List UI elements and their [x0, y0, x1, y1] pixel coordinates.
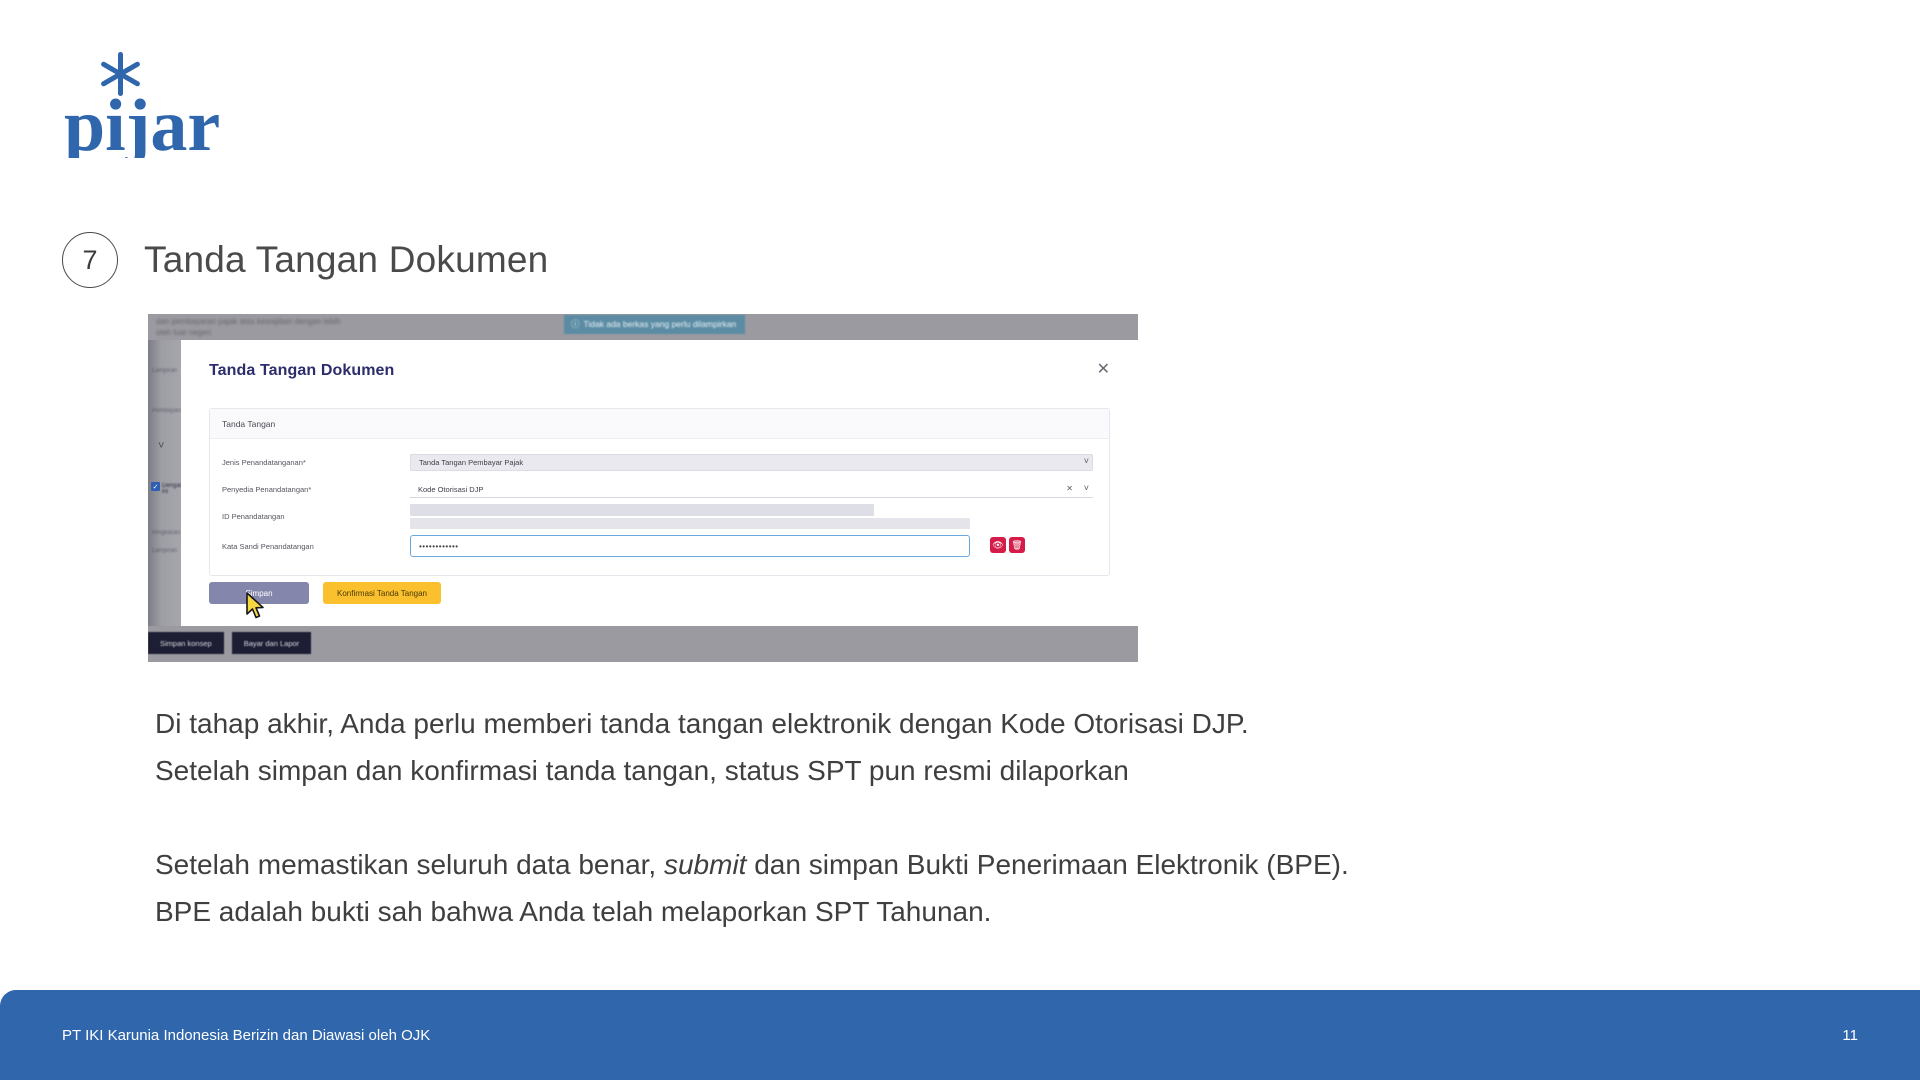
field-control-penyedia: Kode Otorisasi DJP ✕ ˅ — [410, 481, 1109, 498]
field-row-kata-sandi: Kata Sandi Penandatangan •••••••••••• 👁 … — [210, 530, 1109, 562]
signature-form: Jenis Penandatanganan* Tanda Tangan Pemb… — [210, 439, 1109, 562]
modal-title: Tanda Tangan Dokumen — [209, 362, 394, 380]
attachment-banner: ⓘTidak ada berkas yang perlu dilampirkan — [564, 315, 745, 334]
close-x-icon[interactable]: ✕ — [1097, 362, 1110, 378]
password-input-kata-sandi[interactable]: •••••••••••• — [410, 535, 970, 557]
sidebar-item-ringkasan[interactable]: Ringkasan — [152, 530, 180, 536]
sidebar-item-lampiran-2[interactable]: Lampiran — [152, 548, 177, 554]
checkbox-checked-icon[interactable]: ✓ — [151, 482, 160, 491]
chevron-down-icon[interactable]: ˅ — [1084, 483, 1089, 493]
step-number-badge: 7 — [62, 232, 118, 288]
brand-logo: pijar — [62, 48, 232, 158]
tab-bayar-dan-lapor[interactable]: Bayar dan Lapor — [232, 632, 311, 654]
info-circle-icon: ⓘ — [571, 319, 580, 329]
paragraph-1-line-2: Setelah simpan dan konfirmasi tanda tang… — [155, 747, 1715, 794]
page-title: Tanda Tangan Dokumen — [144, 239, 548, 281]
embedded-app-screenshot: dan pembayaran pajak atas kewajiban deng… — [148, 314, 1138, 662]
field-label-penyedia: Penyedia Penandatangan* — [210, 485, 410, 494]
modal-action-buttons: Simpan Konfirmasi Tanda Tangan — [209, 582, 441, 604]
paragraph-2-line-1: Setelah memastikan seluruh data benar, s… — [155, 841, 1715, 888]
bottom-tab-bar: Simpan konsep Bayar dan Lapor — [148, 632, 311, 654]
signature-card: Tanda Tangan Jenis Penandatanganan* Tand… — [209, 408, 1110, 576]
field-label-id: ID Penandatangan — [210, 512, 410, 521]
body-copy: Di tahap akhir, Anda perlu memberi tanda… — [155, 700, 1715, 935]
signature-modal: Tanda Tangan Dokumen ✕ Tanda Tangan Jeni… — [181, 340, 1138, 626]
simpan-button[interactable]: Simpan — [209, 582, 309, 604]
background-text-line-1: dan pembayaran pajak atas kewajiban deng… — [156, 317, 341, 326]
field-control-kata-sandi: •••••••••••• 👁 🗑 — [410, 535, 1109, 557]
field-row-id-penandatangan: ID Penandatangan — [210, 503, 1109, 530]
chevron-down-icon[interactable]: ˅ — [1084, 456, 1089, 466]
paragraph-2-post: dan simpan Bukti Penerimaan Elektronik (… — [746, 849, 1348, 880]
field-row-penyedia-penandatangan: Penyedia Penandatangan* Kode Otorisasi D… — [210, 476, 1109, 503]
asterisk-star-icon: pijar — [62, 48, 232, 158]
clear-x-icon[interactable]: ✕ — [1066, 484, 1073, 493]
app-sidebar-blurred: Lampiran Pembayaran ˅ ✓ Dengan ini Ringk… — [148, 340, 181, 662]
svg-text:pijar: pijar — [64, 85, 220, 158]
sidebar-checkbox-label: Dengan ini — [162, 483, 183, 495]
tab-gap — [224, 632, 232, 654]
redacted-value-id — [410, 504, 874, 516]
page-number: 11 — [1842, 1027, 1858, 1044]
paragraph-2-pre: Setelah memastikan seluruh data benar, — [155, 849, 664, 880]
paragraph-spacer — [155, 794, 1715, 841]
password-masked-value: •••••••••••• — [419, 542, 459, 551]
password-action-icons: 👁 🗑 — [990, 537, 1025, 553]
paragraph-2-line-2: BPE adalah bukti sah bahwa Anda telah me… — [155, 888, 1715, 935]
paragraph-2-emphasis: submit — [664, 849, 746, 880]
slide-footer: PT IKI Karunia Indonesia Berizin dan Dia… — [0, 990, 1920, 1080]
footer-legal-text: PT IKI Karunia Indonesia Berizin dan Dia… — [62, 1027, 430, 1044]
select-penyedia-penandatangan[interactable]: Kode Otorisasi DJP — [410, 481, 1093, 498]
app-background-top: dan pembayaran pajak atas kewajiban deng… — [148, 314, 1138, 340]
sidebar-item-lampiran[interactable]: Lampiran — [152, 368, 177, 374]
select-jenis-penandatanganan[interactable]: Tanda Tangan Pembayar Pajak — [410, 454, 1093, 471]
tab-simpan-konsep[interactable]: Simpan konsep — [148, 632, 224, 654]
redacted-value-id-2 — [410, 518, 970, 529]
chevron-down-icon[interactable]: ˅ — [158, 440, 164, 452]
konfirmasi-tanda-tangan-button[interactable]: Konfirmasi Tanda Tangan — [323, 582, 441, 604]
trash-icon[interactable]: 🗑 — [1009, 537, 1025, 553]
step-heading: 7 Tanda Tangan Dokumen — [62, 232, 548, 288]
field-label-jenis: Jenis Penandatanganan* — [210, 458, 410, 467]
card-header-label: Tanda Tangan — [210, 409, 1109, 439]
field-label-kata-sandi: Kata Sandi Penandatangan — [210, 542, 410, 551]
app-bottom-bar: Simpan konsep Bayar dan Lapor — [148, 626, 1138, 662]
paragraph-1-line-1: Di tahap akhir, Anda perlu memberi tanda… — [155, 700, 1715, 747]
field-row-jenis-penandatanganan: Jenis Penandatanganan* Tanda Tangan Pemb… — [210, 449, 1109, 476]
field-control-id — [410, 504, 1109, 529]
slide: pijar 7 Tanda Tangan Dokumen dan pembaya… — [0, 0, 1920, 1080]
eye-off-icon[interactable]: 👁 — [990, 537, 1006, 553]
background-text-line-2: oleh luar negeri — [156, 328, 211, 337]
attachment-banner-label: Tidak ada berkas yang perlu dilampirkan — [584, 319, 737, 329]
field-control-jenis: Tanda Tangan Pembayar Pajak ˅ — [410, 454, 1109, 471]
